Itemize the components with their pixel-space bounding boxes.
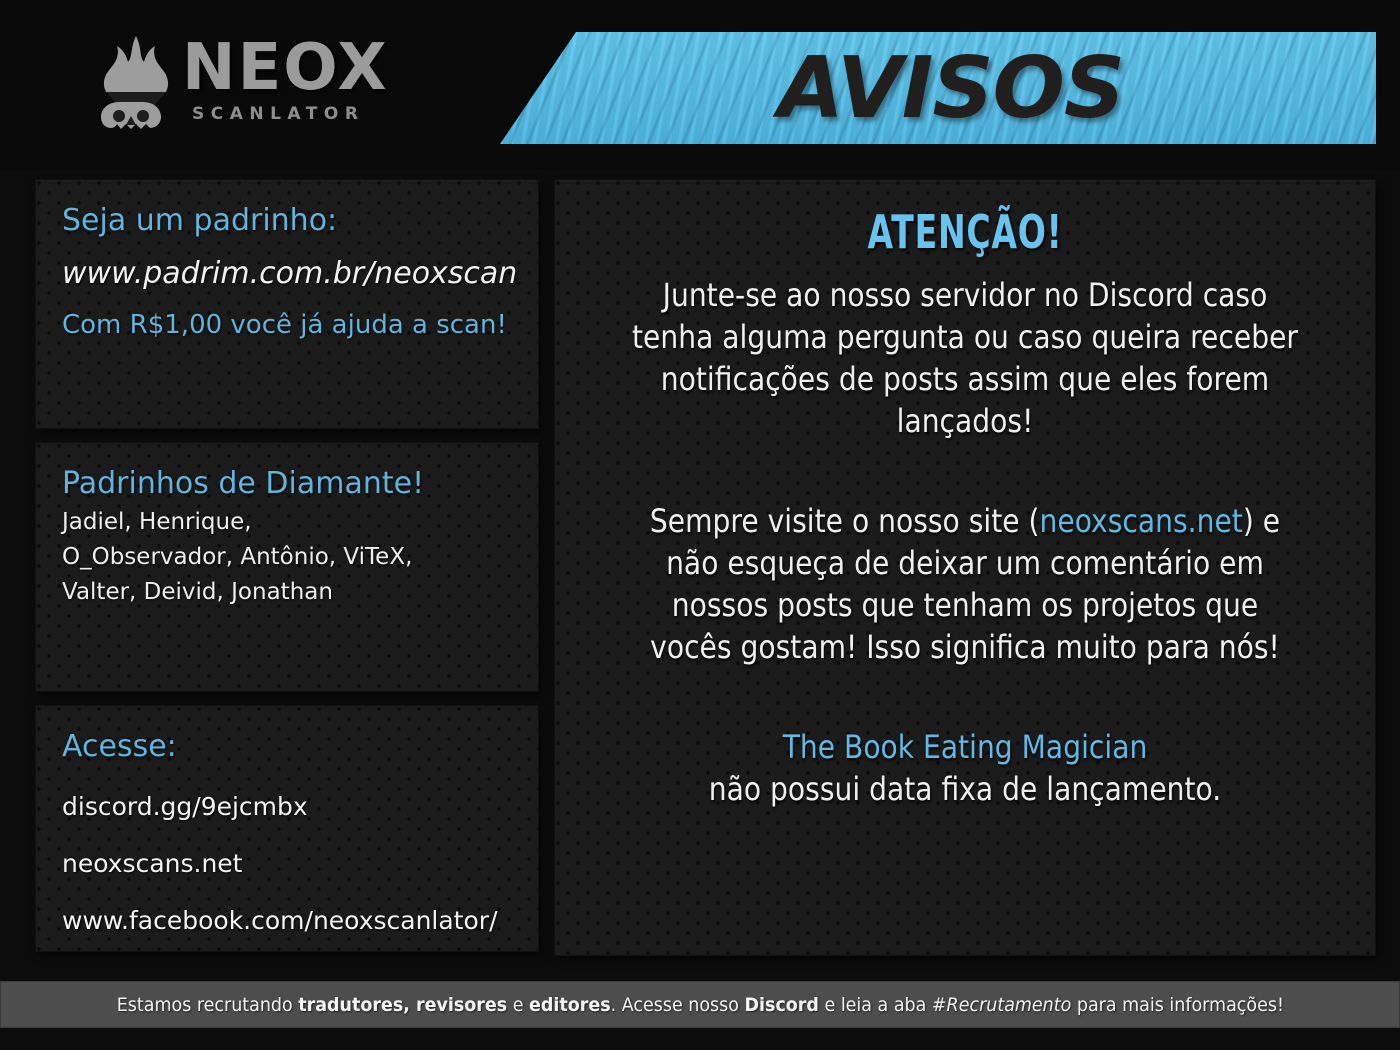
banner-title: AVISOS	[496, 32, 1376, 144]
footer-part-1: Estamos recrutando	[116, 994, 298, 1016]
brand-tagline: SCANLATOR	[192, 104, 422, 124]
panel-acesse-content: Acesse: discord.gg/9ejcmbx neoxscans.net…	[36, 706, 538, 959]
panel-diamante-content: Padrinhos de Diamante! Jadiel, Henrique,…	[36, 443, 538, 630]
panel-seja-um-padrinho: Seja um padrinho: www.padrim.com.br/neox…	[36, 180, 538, 428]
project-status: não possui data fixa de lançamento.	[709, 770, 1221, 808]
panel-padrinho-content: Seja um padrinho: www.padrim.com.br/neox…	[36, 180, 538, 364]
notices-content: ATENÇÃO! Junte-se ao nosso servidor no D…	[555, 180, 1375, 810]
diamante-heading: Padrinhos de Diamante!	[62, 465, 512, 503]
recruitment-footer: Estamos recrutando tradutores, revisores…	[0, 981, 1400, 1028]
footer-part-3: . Acesse nosso	[610, 994, 744, 1016]
diamante-name-line: Valter, Deivid, Jonathan	[62, 577, 512, 608]
footer-bold-editors: editores	[529, 994, 611, 1016]
acesse-heading: Acesse:	[62, 728, 512, 766]
notices-heading: ATENÇÃO!	[691, 206, 1238, 258]
footer-bold-discord[interactable]: Discord	[744, 994, 818, 1016]
flaming-skull-icon	[86, 32, 186, 132]
notice-site-link[interactable]: neoxscans.net	[1040, 502, 1243, 540]
panel-notices: ATENÇÃO! Junte-se ao nosso servidor no D…	[555, 180, 1375, 955]
brand-wordmark: NEOX SCANLATOR	[182, 36, 422, 124]
brand-name: NEOX	[182, 36, 422, 100]
notice-paragraph-project: The Book Eating Magiciannão possui data …	[631, 726, 1300, 810]
diamante-name-line: Jadiel, Henrique,	[62, 507, 512, 538]
site-link[interactable]: neoxscans.net	[62, 847, 512, 880]
padrinho-note: Com R$1,00 você já ajuda a scan!	[62, 308, 512, 342]
header-bar: NEOX SCANLATOR AVISOS	[0, 0, 1400, 170]
panel-acesse: Acesse: discord.gg/9ejcmbx neoxscans.net…	[36, 706, 538, 951]
footer-italic-channel: #Recrutamento	[932, 994, 1071, 1016]
footer-part-4: e leia a aba	[819, 994, 932, 1016]
brand-logo: NEOX SCANLATOR	[86, 28, 416, 146]
notice-site-before: Sempre visite o nosso site (	[650, 502, 1040, 540]
facebook-link[interactable]: www.facebook.com/neoxscanlator/	[62, 904, 512, 937]
footer-bold-roles: tradutores, revisores	[298, 994, 507, 1016]
project-title: The Book Eating Magician	[631, 726, 1300, 768]
padrim-url[interactable]: www.padrim.com.br/neoxscan	[62, 254, 512, 294]
discord-link[interactable]: discord.gg/9ejcmbx	[62, 790, 512, 823]
diamante-name-line: O_Observador, Antônio, ViTeX,	[62, 542, 512, 573]
footer-part-5: para mais informações!	[1071, 994, 1284, 1016]
panel-padrinhos-diamante: Padrinhos de Diamante! Jadiel, Henrique,…	[36, 443, 538, 691]
padrinho-heading: Seja um padrinho:	[62, 202, 512, 240]
notice-paragraph-discord: Junte-se ao nosso servidor no Discord ca…	[631, 274, 1300, 442]
footer-part-2: e	[507, 994, 529, 1016]
recruitment-text: Estamos recrutando tradutores, revisores…	[116, 994, 1283, 1016]
notice-paragraph-site: Sempre visite o nosso site (neoxscans.ne…	[631, 500, 1300, 668]
avisos-poster: NEOX SCANLATOR AVISOS Seja um padrinho: …	[0, 0, 1400, 1050]
avisos-banner: AVISOS	[496, 32, 1376, 144]
